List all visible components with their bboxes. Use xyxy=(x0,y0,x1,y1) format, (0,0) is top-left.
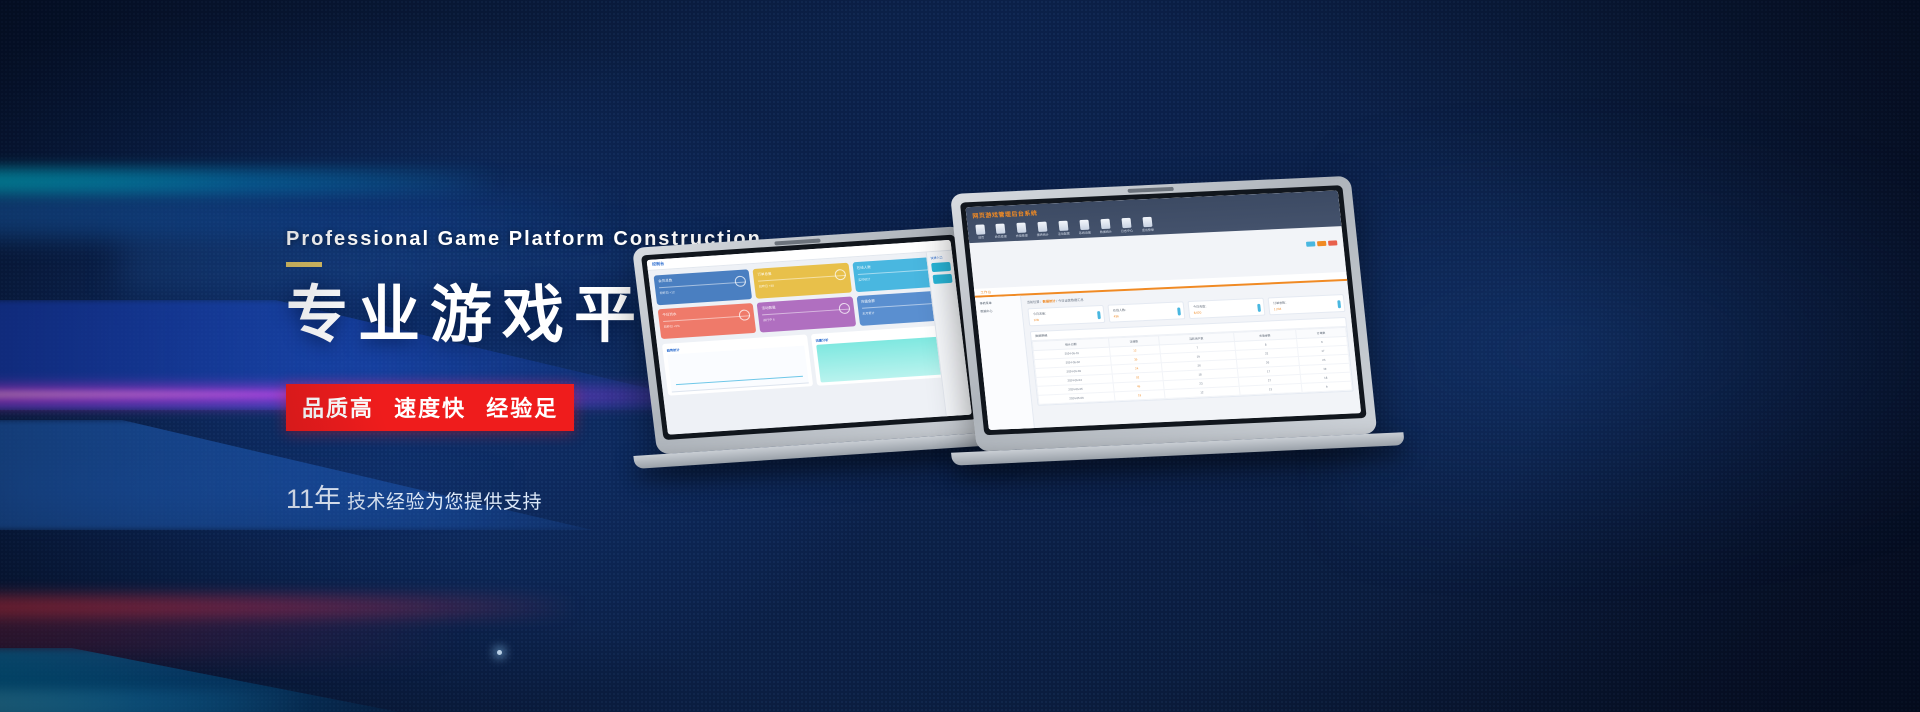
stat-box: 订单总数： 1,204 xyxy=(1268,294,1346,315)
laptop-back-screen: 控制台 会员总数 较昨日 +12 订单总量 xyxy=(641,235,977,440)
years-value: 11年 xyxy=(286,484,341,514)
rail-title: 快捷入口 xyxy=(930,255,949,260)
export-button[interactable] xyxy=(1317,241,1327,246)
marker-icon xyxy=(1337,300,1341,308)
reset-button[interactable] xyxy=(1328,240,1338,245)
stat-card[interactable]: 会员总数 较昨日 +12 xyxy=(654,269,753,305)
breadcrumb-suffix: / 今日运营数据汇总 xyxy=(1055,298,1084,303)
chart-panel: 趋势统计 xyxy=(662,334,813,395)
sidebar-item-data[interactable]: 数据中心 xyxy=(980,308,1017,314)
line-chart xyxy=(667,346,809,393)
badge-item-3: 经验足 xyxy=(486,396,558,421)
toolbar-item-members[interactable]: 会员管理 xyxy=(993,223,1007,238)
stats-table: 统计日期 注册数 活跃用户数 充值金额 订单数 2024-05-01 xyxy=(1032,327,1353,405)
stat-value: 128 xyxy=(1033,315,1099,322)
dashboard-brand: 控制台 xyxy=(652,261,665,268)
admin-header: 网页游戏管理后台系统 首页 会员管理 充值管理 报表统计 活动配置 系统设置 数… xyxy=(965,190,1341,243)
rail-button[interactable] xyxy=(933,274,953,284)
webcam-icon xyxy=(1127,187,1173,193)
laptop-mockups: 控制台 会员总数 较昨日 +12 订单总量 xyxy=(620,180,1520,510)
light-dot xyxy=(497,650,502,655)
badge-item-1: 品质高 xyxy=(302,396,374,421)
experience-text: 技术经验为您提供支持 xyxy=(347,492,542,513)
admin-main: 当前位置：数据统计 / 今日运营数据汇总 今日注册： 128 xyxy=(1021,281,1361,430)
toolbar-item-settings[interactable]: 系统设置 xyxy=(1077,220,1091,235)
webcam-icon xyxy=(774,238,820,245)
breadcrumb-prefix: 当前位置： xyxy=(1027,300,1043,305)
logout-icon xyxy=(1142,217,1152,227)
hero-banner: Professional Game Platform Construction … xyxy=(0,0,1920,712)
toolbar-item-logs[interactable]: 日志中心 xyxy=(1120,218,1134,233)
marker-icon xyxy=(1177,307,1181,315)
chart-icon xyxy=(1100,219,1110,229)
data-table: 数据明细 统计日期 注册数 活跃用户数 充值金额 订单数 xyxy=(1030,317,1354,406)
toolbar-item-logout[interactable]: 退出登录 xyxy=(1141,217,1155,232)
stat-card[interactable]: 活动数量 进行中 6 xyxy=(757,296,856,332)
stat-box: 今日注册： 128 xyxy=(1027,305,1105,326)
stat-card[interactable]: 今日流水 较昨日 +5% xyxy=(658,303,757,339)
toolbar-item-reports[interactable]: 报表统计 xyxy=(1035,222,1049,237)
stat-value: 436 xyxy=(1113,311,1179,318)
toolbar-item-activity[interactable]: 活动配置 xyxy=(1056,221,1070,236)
laptop-back: 控制台 会员总数 较昨日 +12 订单总量 xyxy=(632,226,989,467)
log-icon xyxy=(1121,218,1131,228)
toolbar-item-recharge[interactable]: 充值管理 xyxy=(1014,223,1028,238)
admin-dashboard: 网页游戏管理后台系统 首页 会员管理 充值管理 报表统计 活动配置 系统设置 数… xyxy=(965,190,1361,430)
gold-rule xyxy=(286,262,322,267)
table-action-buttons xyxy=(1306,240,1338,246)
report-icon xyxy=(1037,222,1047,232)
laptop-front: 网页游戏管理后台系统 首页 会员管理 充值管理 报表统计 活动配置 系统设置 数… xyxy=(950,176,1379,465)
status-badge: 品质高 速度快 经验足 xyxy=(286,384,574,431)
members-icon xyxy=(995,224,1005,234)
subbar-label: 工作台 xyxy=(980,289,992,294)
stat-card[interactable]: 订单总量 较昨日 +38 xyxy=(753,263,852,299)
home-icon xyxy=(975,224,985,234)
stat-box: 在线人数： 436 xyxy=(1107,301,1185,322)
stat-box: 今日充值： 8,620 xyxy=(1187,298,1265,319)
gear-icon xyxy=(1079,220,1089,230)
search-button[interactable] xyxy=(1306,241,1316,246)
badge-item-2: 速度快 xyxy=(394,396,466,421)
toolbar-item-stats[interactable]: 数据统计 xyxy=(1099,219,1113,234)
recharge-icon xyxy=(1016,223,1026,233)
stat-value: 1,204 xyxy=(1274,304,1340,311)
stat-value: 8,620 xyxy=(1194,308,1260,315)
dashboard-overview: 控制台 会员总数 较昨日 +12 订单总量 xyxy=(647,240,972,435)
activity-icon xyxy=(1058,221,1068,231)
breadcrumb-active: 数据统计 xyxy=(1042,299,1055,304)
laptop-back-lid: 控制台 会员总数 较昨日 +12 订单总量 xyxy=(632,226,987,454)
marker-icon xyxy=(1257,304,1261,312)
sidebar-item-nav[interactable]: 导航菜单 xyxy=(979,300,1016,306)
rail-button[interactable] xyxy=(931,262,951,272)
toolbar-item-home[interactable]: 首页 xyxy=(975,224,986,239)
laptop-front-screen: 网页游戏管理后台系统 首页 会员管理 充值管理 报表统计 活动配置 系统设置 数… xyxy=(960,185,1367,435)
marker-icon xyxy=(1097,311,1101,319)
laptop-front-lid: 网页游戏管理后台系统 首页 会员管理 充值管理 报表统计 活动配置 系统设置 数… xyxy=(950,176,1377,452)
